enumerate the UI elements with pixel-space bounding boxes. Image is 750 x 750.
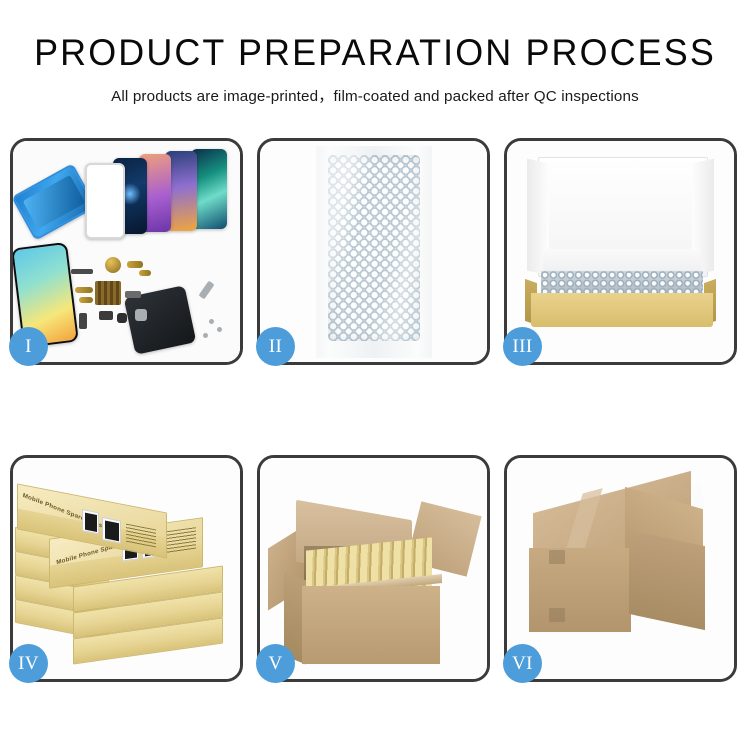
step-2-image	[260, 141, 487, 362]
page-subtitle: All products are image-printed，film-coat…	[0, 84, 750, 106]
screen-glass	[85, 163, 125, 239]
step-badge-3: III	[503, 327, 542, 366]
carton-tab-bottom	[549, 608, 565, 622]
sealed-carton-front	[529, 548, 631, 632]
step-badge-5: V	[256, 644, 295, 683]
step-5-image	[260, 458, 487, 679]
part-connector-grid	[95, 281, 121, 305]
carton-front-panel	[302, 586, 440, 664]
bubble-wrap-sheen	[328, 155, 420, 341]
process-step-panel-5[interactable]: V	[257, 455, 490, 682]
step-badge-2: II	[256, 327, 295, 366]
part-vibrator	[79, 313, 87, 329]
part-flex-cable-2	[139, 270, 151, 276]
box-front-panel	[531, 293, 713, 327]
box-stack: Mobile Phone Spare Parts Mobile Phone Sp…	[13, 458, 240, 679]
process-step-panel-3[interactable]: III	[504, 138, 737, 365]
part-camera	[99, 311, 113, 320]
sealed-carton-side	[629, 530, 705, 630]
part-flex-cable-3	[75, 287, 93, 293]
process-step-panel-2[interactable]: II	[257, 138, 490, 365]
part-flex-cable-4	[79, 297, 93, 303]
part-bracket	[125, 291, 141, 298]
part-screw-1	[209, 319, 214, 324]
part-screw-3	[203, 333, 208, 338]
process-step-panel-6[interactable]: VI	[504, 455, 737, 682]
part-flex-cable-1	[127, 261, 143, 268]
part-shield	[135, 309, 147, 321]
step-1-image	[13, 141, 240, 362]
step-badge-1: I	[9, 327, 48, 366]
process-step-grid: I II III	[10, 138, 740, 682]
step-badge-4: IV	[9, 644, 48, 683]
page-header: PRODUCT PREPARATION PROCESS All products…	[0, 0, 750, 106]
part-speaker-coil	[105, 257, 121, 273]
step-3-image	[507, 141, 734, 362]
carton-tab-top	[549, 550, 565, 564]
page-title: PRODUCT PREPARATION PROCESS	[11, 34, 739, 73]
part-button	[117, 313, 127, 323]
step-4-image: Mobile Phone Spare Parts Mobile Phone Sp…	[13, 458, 240, 679]
part-earpiece	[71, 269, 93, 274]
part-screw-2	[217, 327, 222, 332]
step-badge-6: VI	[503, 644, 542, 683]
process-step-panel-1[interactable]: I	[10, 138, 243, 365]
process-step-panel-4[interactable]: Mobile Phone Spare Parts Mobile Phone Sp…	[10, 455, 243, 682]
step-6-image	[507, 458, 734, 679]
